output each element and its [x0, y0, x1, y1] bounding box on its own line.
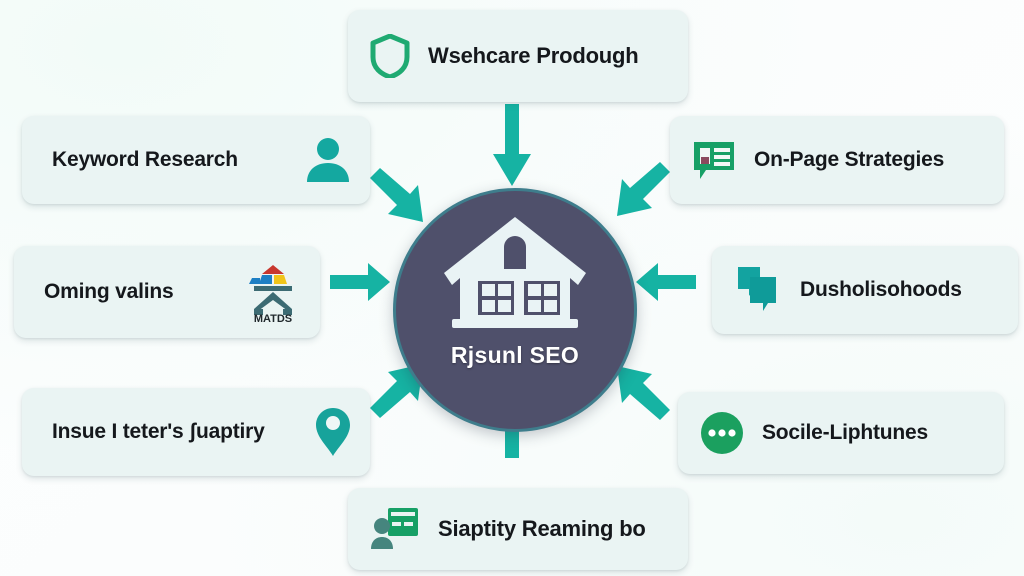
matds-logo-icon: MATDS: [244, 261, 302, 323]
node-card-left-bottom[interactable]: Insue I teter's ʃuaptiry: [22, 388, 370, 476]
node-card-left-mid-label: Oming valins: [44, 280, 173, 304]
arrow-down-top: [488, 104, 536, 193]
center-hub[interactable]: Rjsunl SEO: [393, 188, 637, 432]
node-card-right-bottom[interactable]: Socile-Liphtunes: [678, 392, 1004, 474]
node-card-top[interactable]: Wsehcare Prodough: [348, 10, 688, 102]
presentation-person-icon: [370, 506, 420, 552]
person-icon: [304, 137, 352, 183]
node-card-right-top[interactable]: On-Page Strategies: [670, 116, 1004, 204]
center-hub-label: Rjsunl SEO: [451, 342, 579, 369]
arrow-left-right-middle: [634, 258, 696, 311]
arrow-right-left-middle: [330, 258, 392, 311]
node-card-bottom-label: Siaptity Reaming bo: [438, 516, 646, 542]
node-card-top-label: Wsehcare Prodough: [428, 43, 639, 69]
node-card-left-bottom-label: Insue I teter's ʃuaptiry: [52, 420, 265, 444]
node-card-bottom[interactable]: Siaptity Reaming bo: [348, 488, 688, 570]
node-card-right-top-label: On-Page Strategies: [754, 148, 944, 172]
arrow-diagonal-right-top: [610, 162, 672, 225]
shield-icon: [370, 34, 410, 78]
node-card-right-mid-label: Dusholisohoods: [800, 278, 962, 302]
node-card-left-top[interactable]: Keyword Research: [22, 116, 370, 204]
matds-logo-text: MATDS: [254, 313, 292, 323]
dots-circle-icon: [700, 411, 744, 455]
node-card-left-top-label: Keyword Research: [52, 148, 238, 172]
map-pin-icon: [314, 406, 352, 458]
node-card-right-mid[interactable]: Dusholisohoods: [712, 246, 1018, 334]
house-icon: [440, 213, 590, 336]
arrow-diagonal-left-top: [368, 168, 430, 231]
chat-bubbles-icon: [734, 264, 782, 316]
node-card-left-mid[interactable]: Oming valins MATDS: [14, 246, 320, 338]
article-list-icon: [692, 139, 736, 181]
node-card-right-bottom-label: Socile-Liphtunes: [762, 421, 928, 445]
diagram-canvas: Rjsunl SEO Wsehcare Prodough Keyword Res…: [0, 0, 1024, 576]
